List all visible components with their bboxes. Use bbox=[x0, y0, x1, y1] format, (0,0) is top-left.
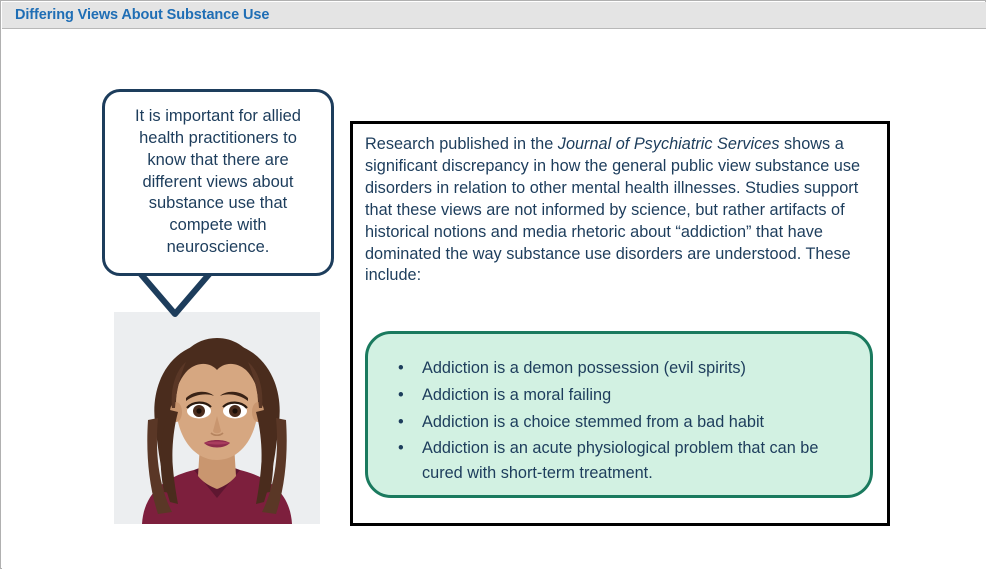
slide-canvas: It is important for allied health practi… bbox=[2, 29, 986, 569]
avatar bbox=[114, 312, 320, 524]
speech-bubble-group: It is important for allied health practi… bbox=[102, 89, 334, 304]
bullet-icon: • bbox=[398, 383, 404, 408]
list-item-label: Addiction is a demon possession (evil sp… bbox=[422, 359, 746, 377]
list-item: •Addiction is a demon possession (evil s… bbox=[394, 356, 850, 381]
page-title: Differing Views About Substance Use bbox=[15, 7, 269, 23]
research-paragraph: Research published in the Journal of Psy… bbox=[365, 134, 875, 287]
misconceptions-list: •Addiction is a demon possession (evil s… bbox=[368, 334, 870, 486]
speech-bubble: It is important for allied health practi… bbox=[102, 89, 334, 276]
speech-bubble-text: It is important for allied health practi… bbox=[105, 106, 331, 260]
avatar-illustration-icon bbox=[114, 312, 320, 524]
list-item: •Addiction is an acute physiological pro… bbox=[394, 436, 850, 486]
list-item-label: Addiction is a choice stemmed from a bad… bbox=[422, 413, 764, 431]
slide-frame: Differing Views About Substance Use It i… bbox=[0, 0, 986, 569]
list-item: •Addiction is a moral failing bbox=[394, 383, 850, 408]
content-panel: Research published in the Journal of Psy… bbox=[350, 121, 890, 526]
list-item: •Addiction is a choice stemmed from a ba… bbox=[394, 410, 850, 435]
journal-title: Journal of Psychiatric Services bbox=[558, 135, 780, 153]
list-item-label: Addiction is an acute physiological prob… bbox=[422, 439, 818, 482]
bullet-icon: • bbox=[398, 410, 404, 435]
speech-bubble-tail-icon bbox=[136, 269, 214, 317]
paragraph-part-1: Research published in the bbox=[365, 135, 558, 153]
bullet-icon: • bbox=[398, 436, 404, 461]
paragraph-part-2: shows a significant discrepancy in how t… bbox=[365, 135, 860, 284]
title-bar: Differing Views About Substance Use bbox=[2, 2, 986, 29]
misconceptions-callout: •Addiction is a demon possession (evil s… bbox=[365, 331, 873, 498]
bullet-icon: • bbox=[398, 356, 404, 381]
list-item-label: Addiction is a moral failing bbox=[422, 386, 611, 404]
